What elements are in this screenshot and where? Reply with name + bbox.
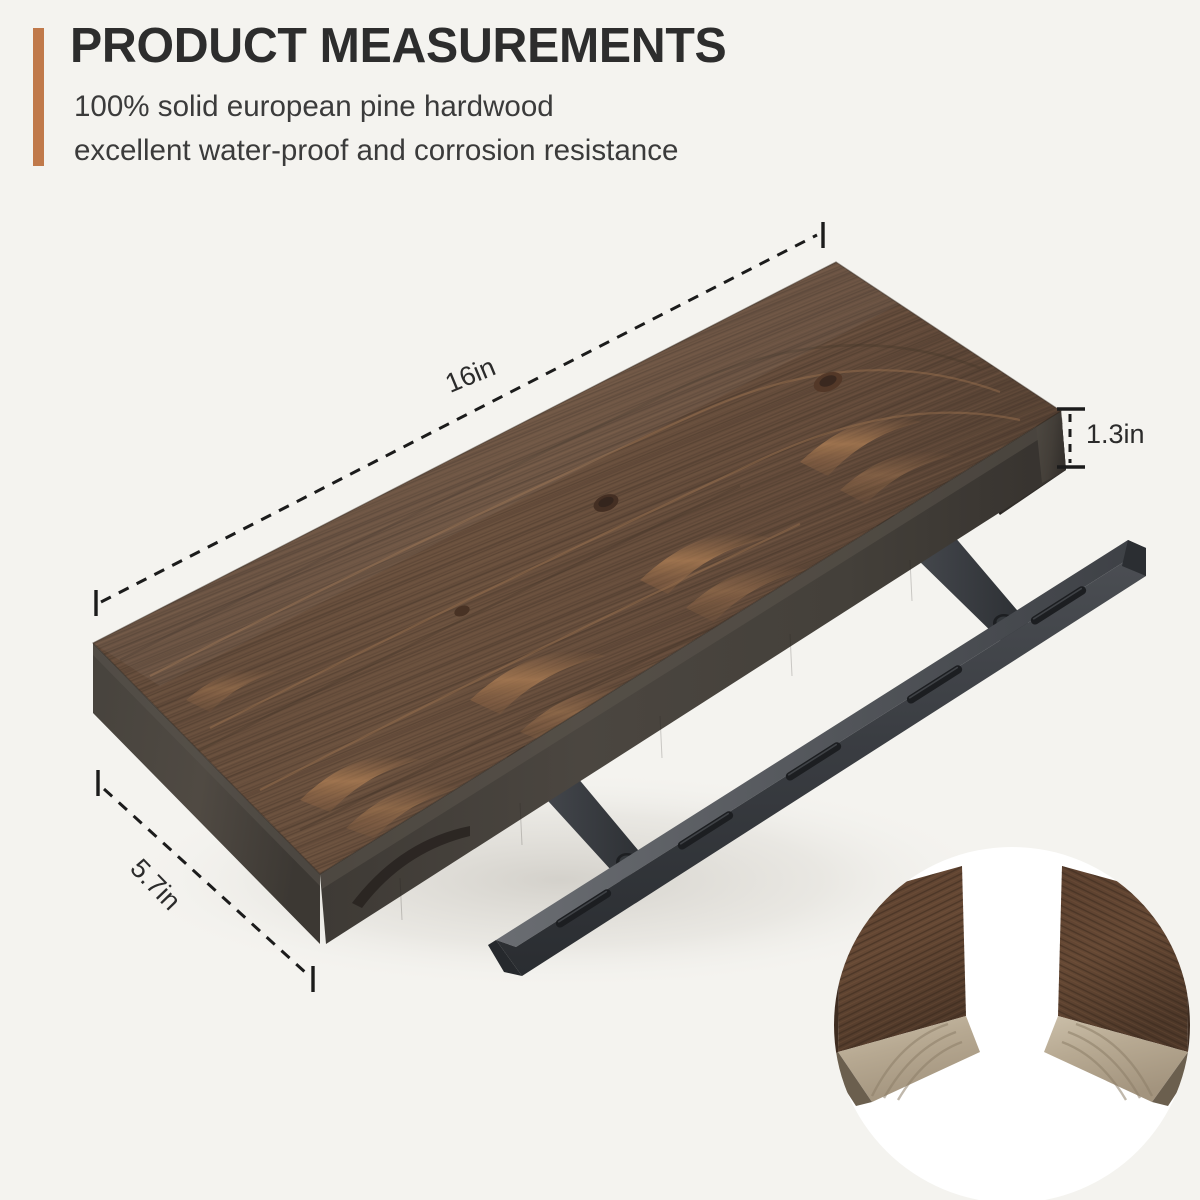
product-illustration: 16in 5.7in 1.3in bbox=[0, 0, 1200, 1200]
dimension-label-thickness: 1.3in bbox=[1086, 419, 1145, 450]
product-measurements-infographic: PRODUCT MEASUREMENTS 100% solid european… bbox=[0, 0, 1200, 1200]
